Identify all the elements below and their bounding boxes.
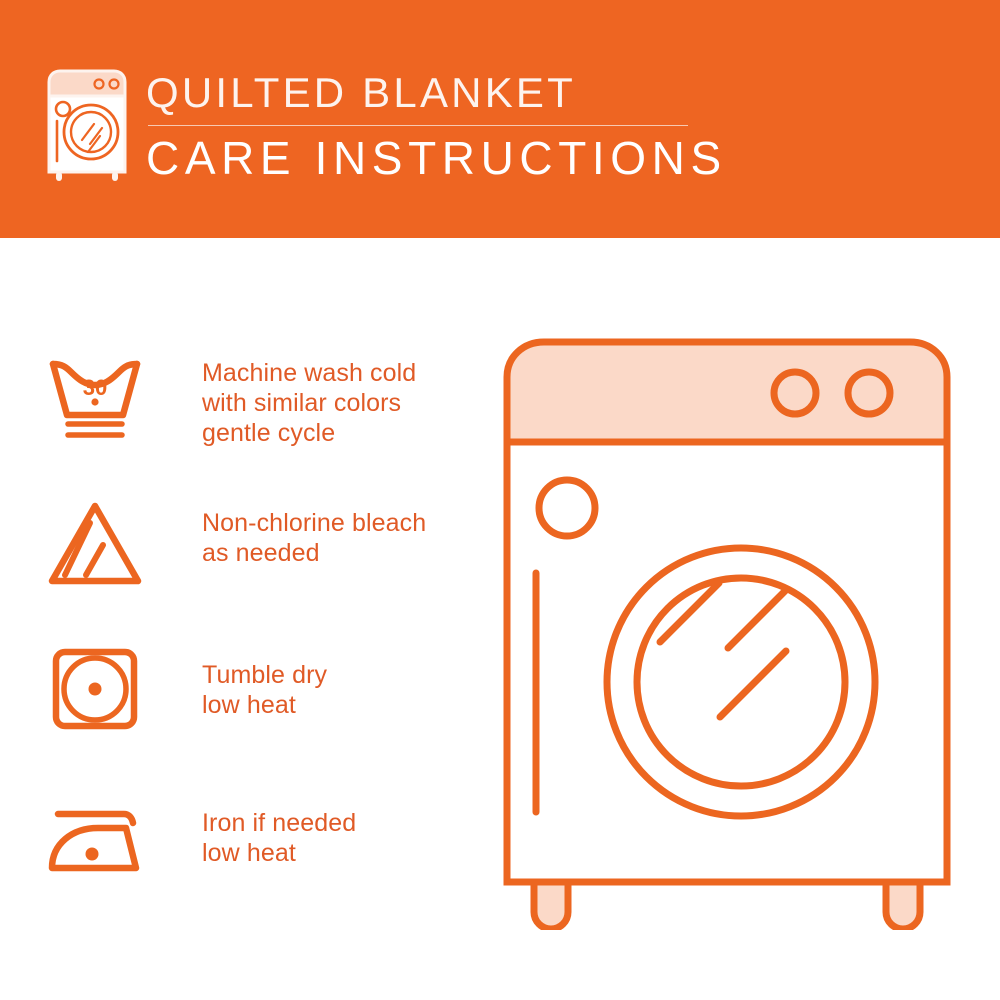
header-banner: QUILTED BLANKET CARE INSTRUCTIONS <box>0 0 1000 238</box>
non-chlorine-bleach-triangle-icon <box>40 488 150 598</box>
wash-basin-30-gentle-icon: 30 <box>40 342 150 452</box>
front-load-washing-machine-illustration <box>492 330 962 930</box>
iron-low-heat-icon <box>40 783 150 893</box>
care-text-line: gentle cycle <box>202 418 416 448</box>
tumble-dry-low-heat-icon <box>40 633 150 743</box>
header-title-group: QUILTED BLANKET CARE INSTRUCTIONS <box>146 70 846 184</box>
title-divider <box>148 125 688 126</box>
care-text-line: Iron if needed <box>202 808 356 838</box>
care-text-line: low heat <box>202 838 356 868</box>
care-text-line: with similar colors <box>202 388 416 418</box>
care-text-line: low heat <box>202 690 327 720</box>
care-instructions-infographic: QUILTED BLANKET CARE INSTRUCTIONS 30 <box>0 0 1000 1000</box>
care-text-line: Machine wash cold <box>202 358 416 388</box>
wash-temperature-label: 30 <box>83 375 107 400</box>
care-text-line: Tumble dry <box>202 660 327 690</box>
leg-left <box>534 882 568 929</box>
care-text-wash: Machine wash cold with similar colors ge… <box>202 358 416 448</box>
care-instruction-list: 30 Machine wash cold with similar colors… <box>0 238 500 1000</box>
page-subtitle: CARE INSTRUCTIONS <box>146 132 846 184</box>
care-text-tumble-dry: Tumble dry low heat <box>202 660 327 720</box>
care-text-iron: Iron if needed low heat <box>202 808 356 868</box>
leg-right <box>886 882 920 929</box>
care-text-line: Non-chlorine bleach <box>202 508 426 538</box>
wash-dot <box>91 398 98 405</box>
care-text-line: as needed <box>202 538 426 568</box>
washing-machine-icon <box>44 66 130 182</box>
care-text-bleach: Non-chlorine bleach as needed <box>202 508 426 568</box>
page-title: QUILTED BLANKET <box>146 70 846 116</box>
control-panel <box>507 342 947 442</box>
